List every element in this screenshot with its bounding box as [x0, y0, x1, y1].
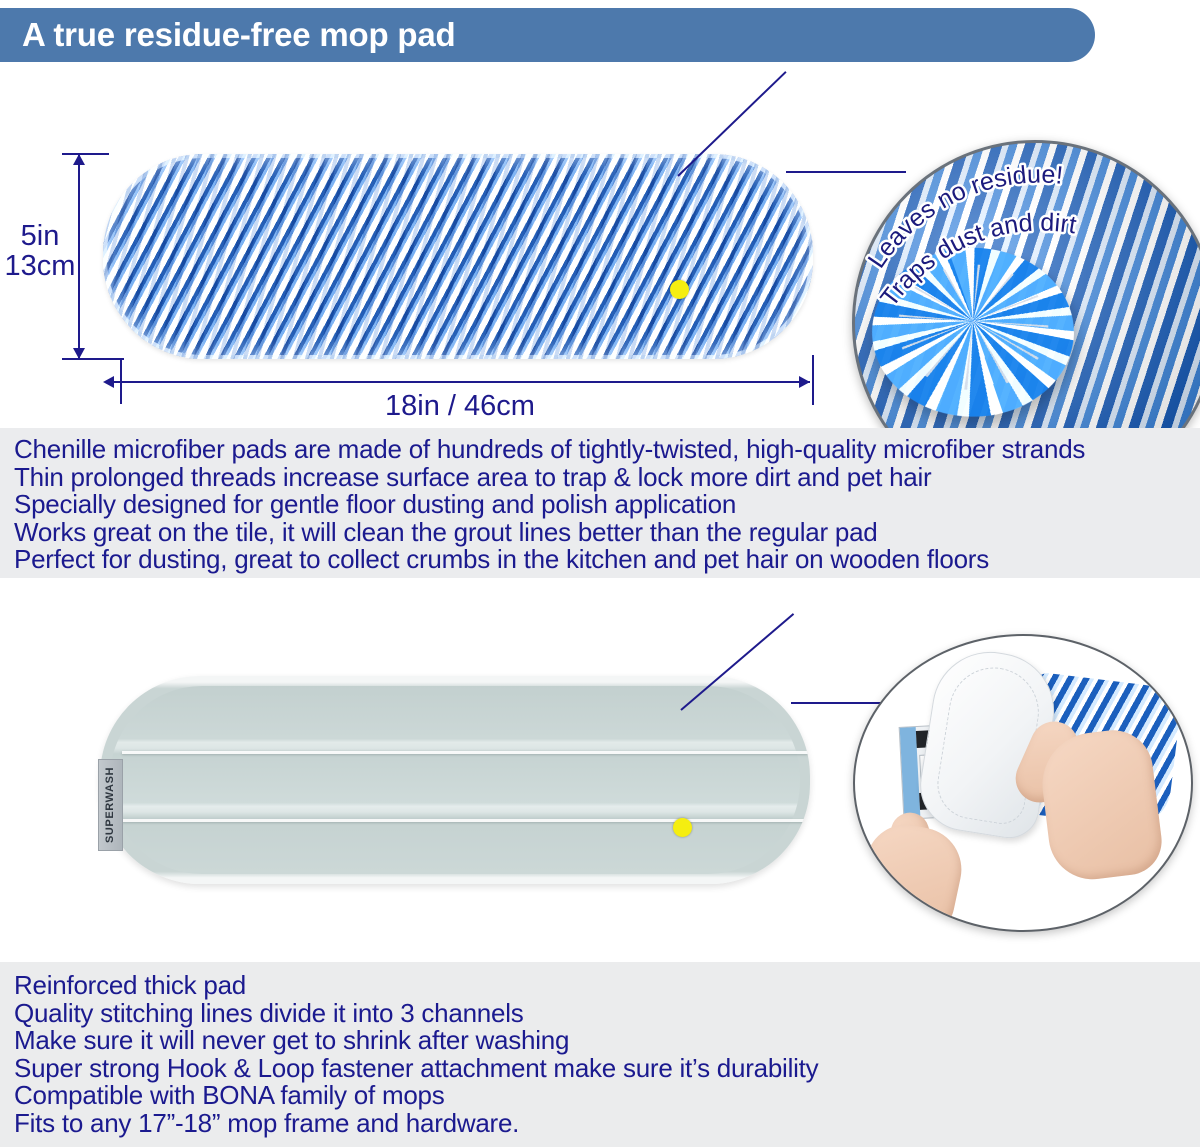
header-banner: A true residue-free mop pad — [0, 8, 1095, 62]
stitching-line — [122, 819, 808, 822]
height-dimension-line — [78, 154, 80, 359]
chenille-mop-pad-image — [103, 154, 813, 359]
width-dimension-label: 18in / 46cm — [105, 390, 815, 423]
feature-item: Make sure it will never get to shrink af… — [14, 1027, 1200, 1055]
feature-item: Works great on the tile, it will clean t… — [14, 519, 1200, 547]
backing-pad-figure — [0, 578, 1200, 962]
fiber-cross-section-diagram — [860, 233, 1109, 428]
product-infographic: A true residue-free mop pad 5in 13cm 18i… — [0, 0, 1200, 1147]
features-list-top: Chenille microfiber pads are made of hun… — [0, 428, 1200, 578]
superwash-care-tag: SUPERWASH — [98, 759, 123, 851]
feature-item: Specially designed for gentle floor dust… — [14, 491, 1200, 519]
height-extension-line-top — [62, 153, 109, 155]
arrow-down-icon — [73, 348, 85, 359]
feature-item: Fits to any 17”-18” mop frame and hardwa… — [14, 1110, 1200, 1138]
arrow-right-icon — [799, 376, 810, 388]
hook-and-loop-attachment-inset — [853, 634, 1193, 932]
feature-item: Chenille microfiber pads are made of hun… — [14, 436, 1200, 464]
arrow-left-icon — [103, 376, 114, 388]
page-title: A true residue-free mop pad — [0, 16, 455, 54]
backing-pad-surface — [110, 686, 800, 874]
left-hand — [853, 817, 969, 932]
feature-item: Reinforced thick pad — [14, 972, 1200, 1000]
width-dimension-line — [105, 381, 810, 383]
callout-leader-line-horizontal — [791, 702, 886, 704]
stitching-line — [122, 751, 808, 754]
height-extension-line-bottom — [62, 358, 124, 360]
chenille-pad-figure: 5in 13cm 18in / 46cm Leaves no residue! — [0, 70, 1200, 428]
callout-dot — [670, 280, 689, 299]
height-dimension-label: 5in 13cm — [4, 222, 76, 282]
chenille-closeup-inset — [852, 140, 1200, 428]
feature-item: Quality stitching lines divide it into 3… — [14, 1000, 1200, 1028]
right-hand — [1037, 726, 1166, 885]
features-list-bottom: Reinforced thick pad Quality stitching l… — [0, 962, 1200, 1147]
backing-mop-pad-image — [100, 676, 810, 884]
feature-item: Compatible with BONA family of mops — [14, 1082, 1200, 1110]
feature-item: Perfect for dusting, great to collect cr… — [14, 546, 1200, 574]
arrow-up-icon — [73, 154, 85, 165]
superwash-tag-label: SUPERWASH — [105, 767, 117, 843]
callout-dot — [673, 818, 692, 837]
feature-item: Super strong Hook & Loop fastener attach… — [14, 1055, 1200, 1083]
feature-item: Thin prolonged threads increase surface … — [14, 464, 1200, 492]
